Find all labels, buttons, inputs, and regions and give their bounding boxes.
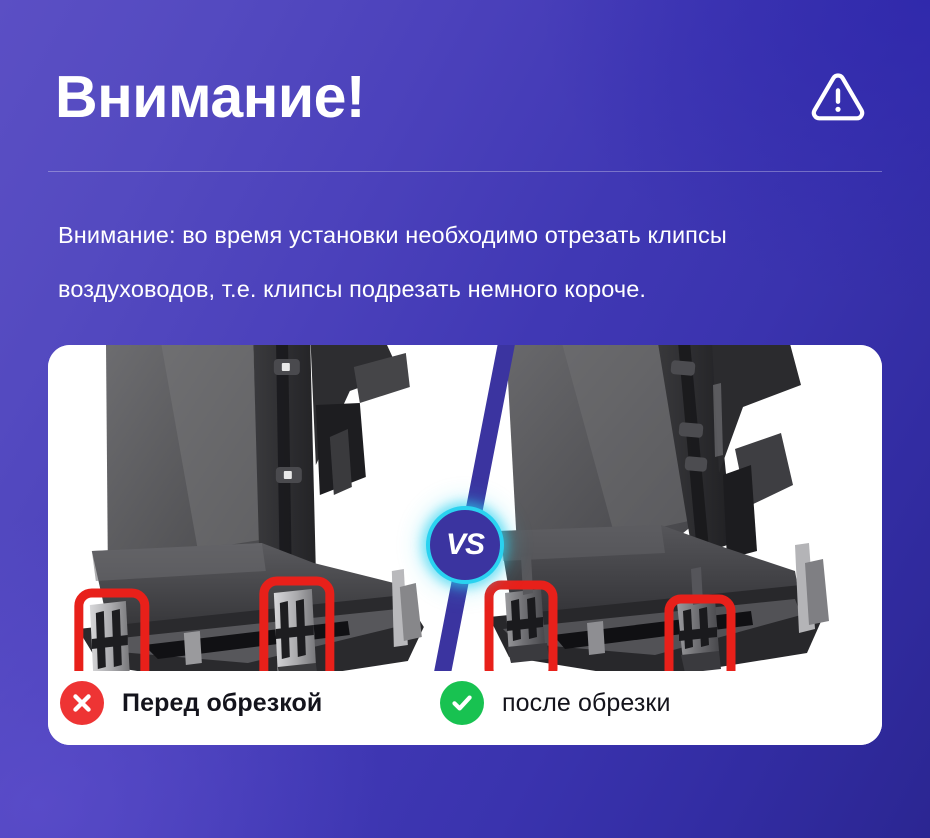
vs-label: VS xyxy=(446,530,484,560)
label-before-trim-text: Перед обрезкой xyxy=(122,689,322,718)
page-header: Внимание! xyxy=(55,52,882,142)
warning-triangle-icon xyxy=(806,65,870,129)
label-after-trim-text: после обрезки xyxy=(502,689,671,718)
check-circle-icon xyxy=(440,681,484,725)
label-before-trim: Перед обрезкой xyxy=(60,681,322,725)
comparison-panes: VS Перед обрезкой xyxy=(48,345,882,745)
page-title: Внимание! xyxy=(55,68,365,127)
label-after-trim: после обрезки xyxy=(440,681,671,725)
cross-circle-icon xyxy=(60,681,104,725)
page-root: Внимание! Внимание: во время установки н… xyxy=(0,0,930,838)
header-divider xyxy=(48,171,882,172)
comparison-card: VS Перед обрезкой xyxy=(48,345,882,745)
vs-badge: VS xyxy=(426,506,504,584)
warning-paragraph: Внимание: во время установки необходимо … xyxy=(58,208,888,316)
